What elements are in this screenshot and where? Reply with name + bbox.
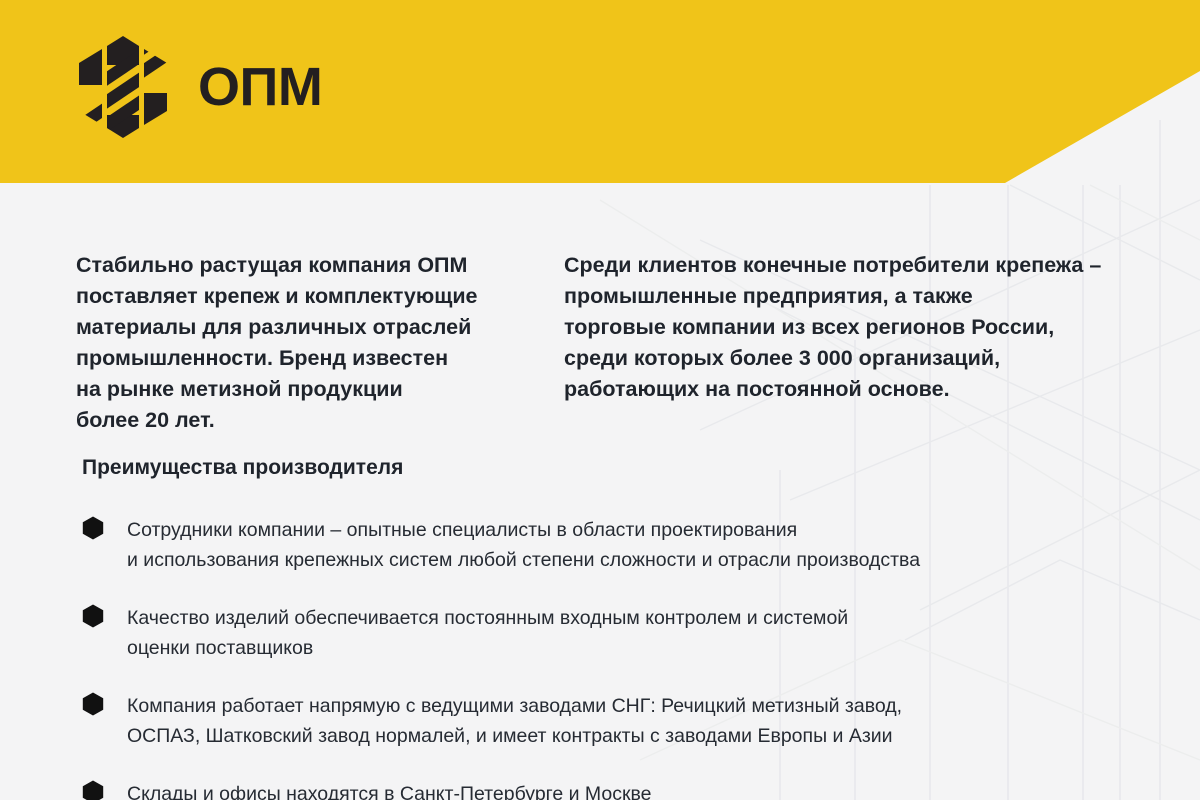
list-item-label: Качество изделий обеспечивается постоянн… xyxy=(127,602,848,663)
advantages-section: Преимущества производителя Сотрудники ко… xyxy=(82,455,1142,800)
advantages-title: Преимущества производителя xyxy=(82,455,1142,480)
list-item-label: Компания работает напрямую с ведущими за… xyxy=(127,690,902,751)
list-item: Компания работает напрямую с ведущими за… xyxy=(82,690,1142,751)
brand-logo: ОПМ xyxy=(74,31,322,143)
hexagon-bullet-icon xyxy=(82,516,104,540)
brand-wordmark: ОПМ xyxy=(198,60,322,114)
list-item: Склады и офисы находятся в Санкт-Петербу… xyxy=(82,778,1142,800)
slide-canvas: ОПМ Стабильно растущая компания ОПМ пост… xyxy=(0,0,1200,800)
list-item-label: Склады и офисы находятся в Санкт-Петербу… xyxy=(127,778,652,800)
hexagon-bullet-icon xyxy=(82,604,104,628)
hexagon-striped-logo-icon xyxy=(74,31,172,143)
intro-paragraph-right: Среди клиентов конечные потребители креп… xyxy=(564,250,1124,436)
hexagon-bullet-icon xyxy=(82,692,104,716)
hexagon-bullet-icon xyxy=(82,780,104,800)
advantages-list: Сотрудники компании – опытные специалист… xyxy=(82,514,1142,800)
intro-paragraph-left: Стабильно растущая компания ОПМ поставля… xyxy=(76,250,496,436)
list-item-label: Сотрудники компании – опытные специалист… xyxy=(127,514,920,575)
list-item: Сотрудники компании – опытные специалист… xyxy=(82,514,1142,575)
list-item: Качество изделий обеспечивается постоянн… xyxy=(82,602,1142,663)
intro-section: Стабильно растущая компания ОПМ поставля… xyxy=(76,250,1136,436)
